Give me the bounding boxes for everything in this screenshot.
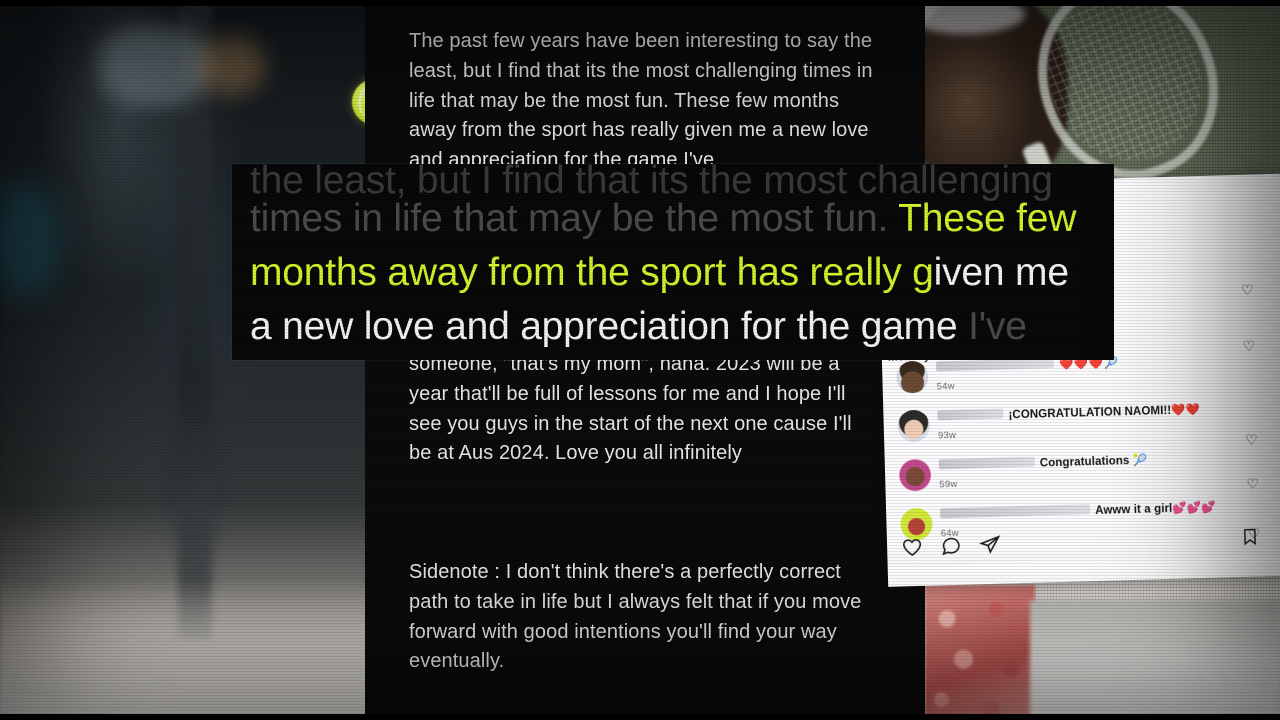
comment-timestamp: 54w	[937, 372, 1280, 393]
comment-text: ¡CONGRATULATION NAOMI!!❤️❤️	[1008, 404, 1200, 421]
comment-like-icon[interactable]: ♡	[1241, 282, 1255, 296]
caption-line-1: times in life that may be the most fun. …	[250, 192, 1110, 246]
comment-list: 77w ❤️❤️❤️🎾 54w ¡CONGRATULATION NAOMI!!❤…	[890, 349, 1280, 556]
comment-username-redacted	[939, 456, 1035, 469]
avatar[interactable]	[897, 410, 930, 443]
post-paragraph-1: The past few years have been interesting…	[409, 27, 879, 176]
letterbox-bottom	[0, 714, 1280, 720]
caption-line-3: a new love and appreciation for the game…	[250, 300, 1110, 354]
background-floor	[0, 580, 380, 720]
letterbox-top	[0, 0, 1280, 6]
caption-overlay: the least, but I find that its the most …	[232, 164, 1114, 360]
comment-timestamp: 59w	[939, 470, 1280, 491]
comment-text: Awww it a girl💕💕💕	[1095, 502, 1216, 517]
patterned-fabric	[925, 585, 1035, 720]
caption-line-2-lit: iven me	[934, 251, 1069, 294]
caption-line-3-dim: I've	[968, 305, 1027, 348]
avatar[interactable]	[896, 361, 929, 394]
background-white-floor	[1030, 600, 1280, 720]
caption-line-3-lit: a new love and appreciation for the game	[250, 305, 957, 348]
comment-bubble-icon[interactable]	[940, 535, 963, 558]
bookmark-icon[interactable]	[1240, 525, 1261, 553]
avatar[interactable]	[899, 459, 932, 492]
comment-username-redacted	[937, 408, 1003, 420]
background-light-blob	[98, 26, 208, 106]
caption-line-1-dim: times in life that may be the most fun.	[250, 197, 888, 240]
caption-line-2: months away from the sport has really gi…	[250, 246, 1110, 300]
comment-timestamp: 93w	[938, 421, 1280, 442]
paper-plane-icon[interactable]	[979, 534, 1002, 557]
heart-icon[interactable]	[901, 536, 924, 559]
background-warm-blob	[196, 36, 266, 96]
post-action-bar	[901, 534, 1002, 559]
caption-line-2-highlight: months away from the sport has really g	[250, 251, 934, 294]
comment-username-redacted	[940, 504, 1090, 518]
video-frame: The past few years have been interesting…	[0, 0, 1280, 720]
comment-text: Congratulations 🎾	[1040, 455, 1148, 470]
post-paragraph-2: someone, "that's my mom", haha. 2023 wil…	[409, 350, 879, 469]
caption-line-1-highlight: These few	[898, 197, 1076, 240]
post-paragraph-3: Sidenote : I don't think there's a perfe…	[409, 558, 879, 677]
